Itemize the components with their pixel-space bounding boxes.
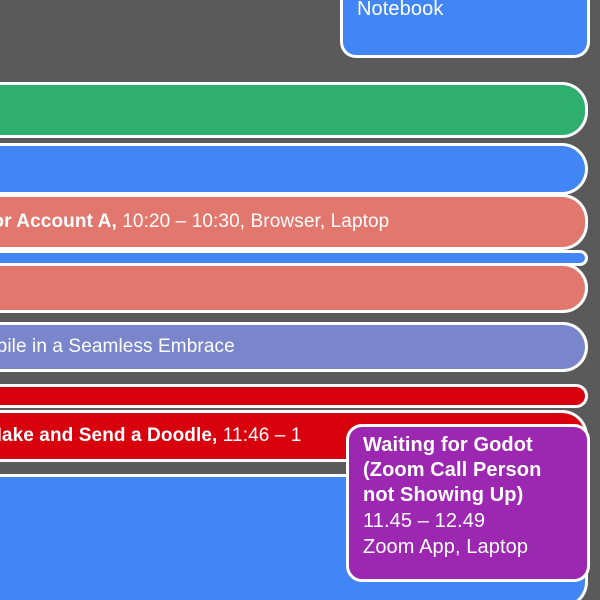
event-band-account-a-text: for Account A, 10:20 – 10:30, Browser, L…: [0, 211, 389, 233]
event-detail-card-notebook[interactable]: 08.42 – 09.10 Notebook: [340, 0, 590, 58]
calendar-timeline-view: 08.42 – 09.10 Notebook for Account A, 10…: [0, 0, 600, 600]
event-detail-card-waiting-for-godot[interactable]: Waiting for Godot (Zoom Call Person not …: [346, 424, 590, 582]
event-band-account-a[interactable]: for Account A, 10:20 – 10:30, Browser, L…: [0, 194, 588, 250]
event-band-blue-upper[interactable]: [0, 143, 588, 195]
event-band-account-a-meta: 10:20 – 10:30, Browser, Laptop: [117, 211, 389, 232]
event-band-seamless-embrace-meta: obile in a Seamless Embrace: [0, 336, 235, 357]
event-band-doodle-meta: 11:46 – 1: [217, 425, 301, 446]
event-card-device: Zoom App, Laptop: [363, 534, 573, 560]
event-card-device: Notebook: [357, 0, 573, 22]
event-band-seamless-embrace-text: obile in a Seamless Embrace: [0, 336, 235, 358]
event-band-doodle-text: Make and Send a Doodle, 11:46 – 1: [0, 425, 302, 447]
event-band-account-a-title: for Account A,: [0, 211, 117, 232]
event-card-title-line-3: not Showing Up): [363, 483, 573, 508]
event-card-title-line-2: (Zoom Call Person: [363, 458, 573, 483]
event-card-time: 11.45 – 12.49: [363, 508, 573, 534]
event-band-green[interactable]: [0, 82, 588, 138]
event-band-salmon-lower[interactable]: [0, 263, 588, 313]
event-card-title-line-1: Waiting for Godot: [363, 433, 573, 458]
event-band-seamless-embrace[interactable]: obile in a Seamless Embrace: [0, 322, 588, 372]
event-band-red-strip[interactable]: [0, 384, 588, 408]
event-band-doodle-title: Make and Send a Doodle,: [0, 425, 217, 446]
